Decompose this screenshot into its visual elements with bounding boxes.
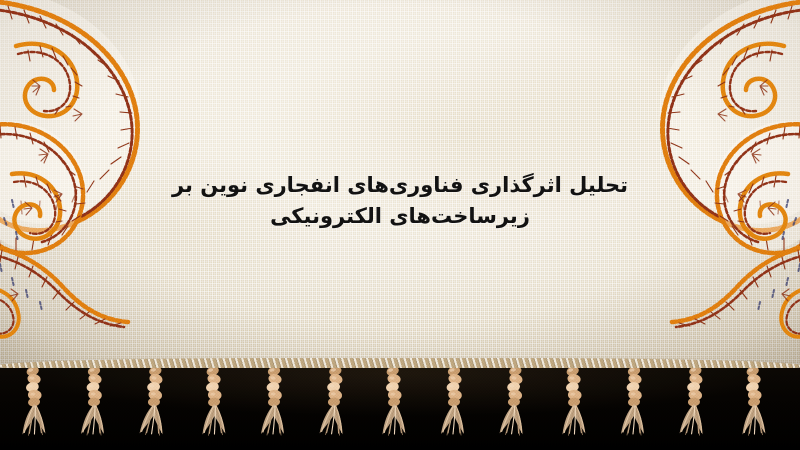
tassel-7: [376, 368, 413, 441]
tassel-3: [136, 368, 173, 441]
knotted-tassel-fringe: [0, 368, 800, 450]
page-title: تحلیل اثرگذاری فناوری‌های انفجاری نوین ب…: [0, 170, 800, 232]
tassel-6: [316, 368, 353, 441]
tassel-8: [438, 368, 472, 440]
tassel-10: [556, 368, 593, 441]
tassel-9: [496, 368, 533, 441]
title-line-1: تحلیل اثرگذاری فناوری‌های انفجاری نوین ب…: [0, 170, 800, 201]
title-card-canvas: تحلیل اثرگذاری فناوری‌های انفجاری نوین ب…: [0, 0, 800, 450]
title-line-2: زیرساخت‌های الکترونیکی: [0, 201, 800, 232]
tassel-5: [258, 368, 292, 440]
tassel-12: [676, 368, 713, 441]
tassel-4: [196, 368, 233, 441]
tassel-11: [618, 368, 652, 440]
tassel-1: [16, 368, 53, 441]
tassel-2: [78, 368, 112, 440]
tassel-13: [736, 368, 773, 441]
